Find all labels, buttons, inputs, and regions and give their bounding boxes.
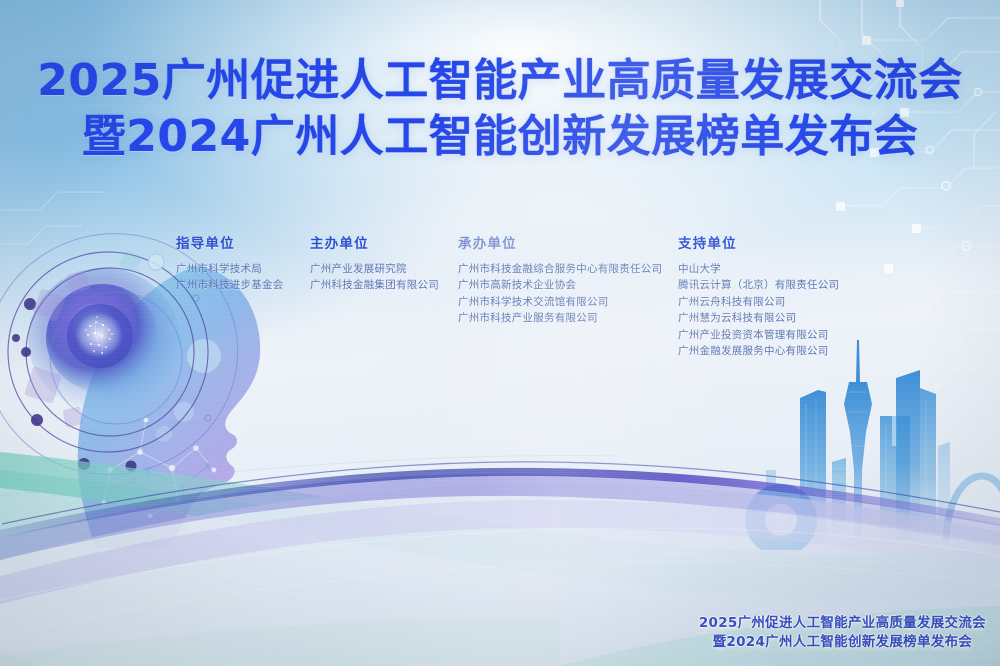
org-item: 广州市科技金融综合服务中心有限责任公司 bbox=[458, 261, 662, 277]
flowing-ribbon-waves bbox=[0, 0, 1000, 666]
org-item: 广州市科技进步基金会 bbox=[176, 277, 284, 293]
org-item: 广州市科学技术局 bbox=[176, 261, 284, 277]
conference-backdrop: 2025广州促进人工智能产业高质量发展交流会 暨2024广州人工智能创新发展榜单… bbox=[0, 0, 1000, 666]
org-column-organizer: 承办单位 广州市科技金融综合服务中心有限责任公司 广州市高新技术企业协会 广州市… bbox=[458, 232, 662, 327]
org-item: 广州金融发展服务中心有限公司 bbox=[678, 343, 839, 359]
org-header-organizer: 承办单位 bbox=[458, 232, 662, 252]
org-column-support: 支持单位 中山大学 腾讯云计算（北京）有限责任公司 广州云舟科技有限公司 广州慧… bbox=[678, 232, 839, 359]
org-column-host: 主办单位 广州产业发展研究院 广州科技金融集团有限公司 bbox=[310, 232, 439, 294]
org-item: 广州市科学技术交流馆有限公司 bbox=[458, 294, 662, 310]
org-header-support: 支持单位 bbox=[678, 232, 839, 252]
org-item: 广州市科技产业服务有限公司 bbox=[458, 310, 662, 326]
org-column-guidance: 指导单位 广州市科学技术局 广州市科技进步基金会 bbox=[176, 232, 284, 294]
org-item: 广州慧为云科技有限公司 bbox=[678, 310, 839, 326]
org-header-host: 主办单位 bbox=[310, 232, 439, 252]
org-item: 中山大学 bbox=[678, 261, 839, 277]
org-item: 广州云舟科技有限公司 bbox=[678, 294, 839, 310]
org-item: 广州产业投资资本管理有限公司 bbox=[678, 327, 839, 343]
org-item: 腾讯云计算（北京）有限责任公司 bbox=[678, 277, 839, 293]
org-item: 广州产业发展研究院 bbox=[310, 261, 439, 277]
org-item: 广州科技金融集团有限公司 bbox=[310, 277, 439, 293]
org-item: 广州市高新技术企业协会 bbox=[458, 277, 662, 293]
org-header-guidance: 指导单位 bbox=[176, 232, 284, 252]
